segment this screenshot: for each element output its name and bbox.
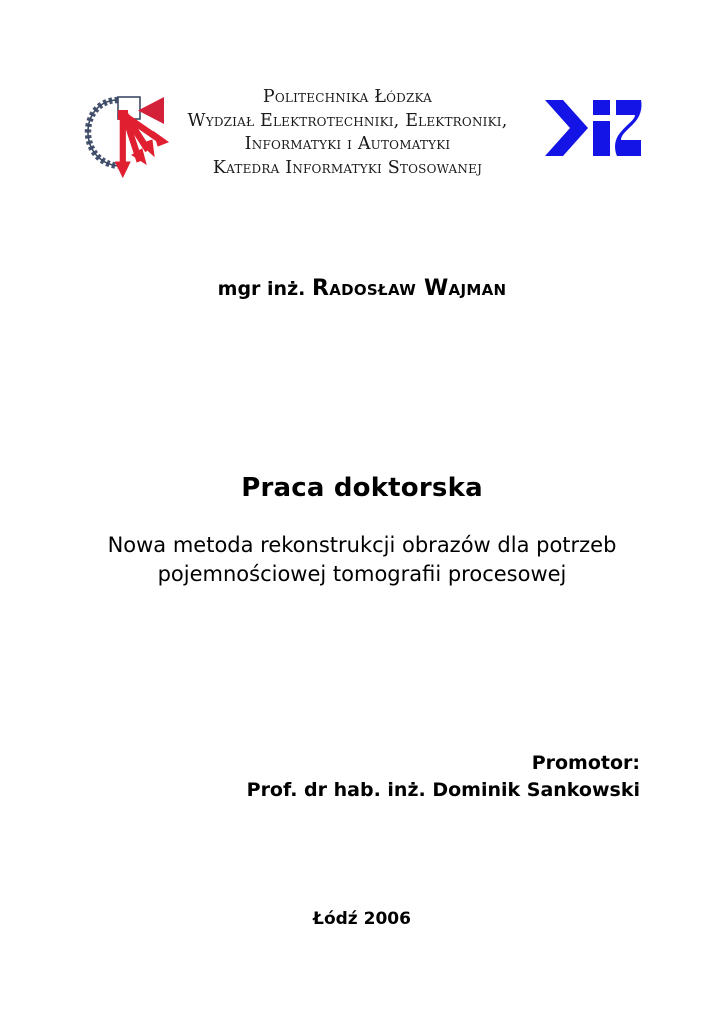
page-header: Politechnika Łódzka Wydział Elektrotechn…: [0, 84, 724, 194]
supervisor-name: Prof. dr hab. inż. Dominik Sankowski: [0, 777, 640, 804]
thesis-title-line-2: pojemnościowej tomografii procesowej: [92, 560, 632, 589]
thesis-type-heading: Praca doktorska: [0, 473, 724, 503]
place-and-year: Łódź 2006: [0, 909, 724, 929]
author-name: Radosław Wajman: [312, 276, 506, 301]
author-line: mgr inż. Radosław Wajman: [0, 276, 724, 301]
supervisor-block: Promotor: Prof. dr hab. inż. Dominik San…: [0, 750, 640, 804]
kis-logo: [543, 92, 647, 164]
thesis-title: Nowa metoda rekonstrukcji obrazów dla po…: [92, 531, 632, 589]
institution-line-university: Politechnika Łódzka: [150, 86, 545, 110]
institution-line-faculty-2: Informatyki i Automatyki: [150, 133, 545, 157]
thesis-title-line-1: Nowa metoda rekonstrukcji obrazów dla po…: [92, 531, 632, 560]
institution-line-faculty-1: Wydział Elektrotechniki, Elektroniki,: [150, 110, 545, 134]
author-degree-prefix: mgr inż.: [218, 278, 306, 300]
supervisor-label: Promotor:: [0, 750, 640, 777]
institution-line-department: Katedra Informatyki Stosowanej: [150, 157, 545, 181]
title-page: Politechnika Łódzka Wydział Elektrotechn…: [0, 0, 724, 1024]
institution-block: Politechnika Łódzka Wydział Elektrotechn…: [150, 86, 545, 180]
